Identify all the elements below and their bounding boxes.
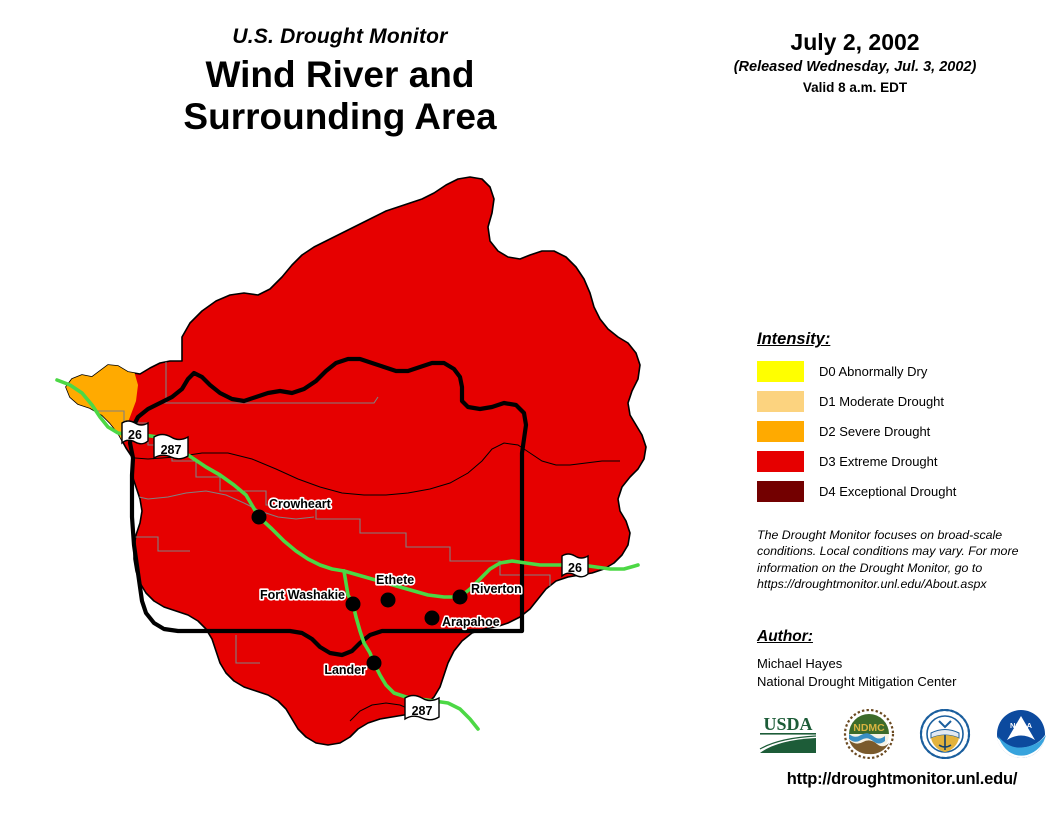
- city-label-ethete: Ethete: [376, 573, 414, 587]
- city-label-riverton: Riverton: [471, 582, 522, 596]
- shield-label-287-south: 287: [412, 704, 433, 718]
- drought-monitor-eyebrow: U.S. Drought Monitor: [0, 26, 680, 47]
- disclaimer-text: The Drought Monitor focuses on broad-sca…: [757, 527, 1033, 593]
- usdoc-seal-logo: [919, 709, 971, 759]
- ndmc-logo-text: NDMC: [853, 722, 885, 734]
- noaa-logo-text: NOAA: [1010, 721, 1033, 730]
- drought-area-d2: [50, 359, 138, 477]
- legend-swatch-d1: [757, 391, 804, 412]
- issue-date: July 2, 2002: [690, 30, 1020, 55]
- author-organization: National Drought Mitigation Center: [757, 673, 1047, 691]
- partner-logo-row: USDA NDMC NOAA: [757, 705, 1047, 763]
- valid-time: Valid 8 a.m. EDT: [690, 81, 1020, 96]
- legend-label-d3: D3 Extreme Drought: [819, 455, 938, 468]
- author-name: Michael Hayes: [757, 655, 1047, 673]
- city-label-crowheart: Crowheart: [269, 497, 332, 511]
- usda-logo-text: USDA: [763, 714, 812, 734]
- usda-logo: USDA: [757, 709, 819, 759]
- page-title: Wind River and Surrounding Area: [0, 54, 680, 138]
- author-heading: Author:: [757, 628, 1047, 646]
- legend-panel: Intensity: D0 Abnormally Dry D1 Moderate…: [757, 330, 1047, 510]
- map-svg: Crowheart Fort Washakie Ethete Riverton …: [30, 165, 730, 790]
- city-marker-arapahoe: [425, 611, 440, 626]
- drought-map: Crowheart Fort Washakie Ethete Riverton …: [30, 165, 730, 790]
- city-label-lander: Lander: [324, 663, 366, 677]
- legend-swatch-d0: [757, 361, 804, 382]
- released-date: (Released Wednesday, Jul. 3, 2002): [690, 60, 1020, 76]
- highway-shield-26-east: 26: [562, 554, 588, 577]
- city-marker-lander: [367, 656, 382, 671]
- legend-label-d4: D4 Exceptional Drought: [819, 485, 956, 498]
- legend-swatch-d3: [757, 451, 804, 472]
- city-marker-fort-washakie: [346, 597, 361, 612]
- page-title-line1: Wind River and: [0, 54, 680, 96]
- legend-swatch-d4: [757, 481, 804, 502]
- shield-label-26-west: 26: [128, 428, 142, 442]
- shield-label-287-west: 287: [161, 443, 182, 457]
- highway-shield-287-south: 287: [405, 696, 439, 720]
- legend-heading: Intensity:: [757, 330, 1047, 349]
- legend-swatch-d2: [757, 421, 804, 442]
- noaa-logo: NOAA: [995, 709, 1047, 759]
- header-title-block: U.S. Drought Monitor Wind River and Surr…: [0, 26, 680, 138]
- legend-label-d1: D1 Moderate Drought: [819, 395, 944, 408]
- legend-label-d0: D0 Abnormally Dry: [819, 365, 927, 378]
- legend-item-d2: D2 Severe Drought: [757, 420, 1047, 443]
- ndmc-logo: NDMC: [843, 709, 895, 759]
- shield-label-26-east: 26: [568, 561, 582, 575]
- page-title-line2: Surrounding Area: [0, 96, 680, 138]
- legend-item-d0: D0 Abnormally Dry: [757, 360, 1047, 383]
- site-url: http://droughtmonitor.unl.edu/: [757, 770, 1047, 789]
- legend-item-d4: D4 Exceptional Drought: [757, 480, 1047, 503]
- city-label-fort-washakie: Fort Washakie: [260, 588, 345, 602]
- highway-shield-26-west: 26: [122, 421, 148, 444]
- drought-area-d3: [66, 177, 646, 745]
- legend-item-d3: D3 Extreme Drought: [757, 450, 1047, 473]
- header-date-block: July 2, 2002 (Released Wednesday, Jul. 3…: [690, 30, 1020, 96]
- city-label-arapahoe: Arapahoe: [442, 615, 500, 629]
- city-marker-crowheart: [252, 510, 267, 525]
- city-marker-ethete: [381, 593, 396, 608]
- legend-item-d1: D1 Moderate Drought: [757, 390, 1047, 413]
- legend-label-d2: D2 Severe Drought: [819, 425, 930, 438]
- city-marker-riverton: [453, 590, 468, 605]
- author-panel: Author: Michael Hayes National Drought M…: [757, 628, 1047, 691]
